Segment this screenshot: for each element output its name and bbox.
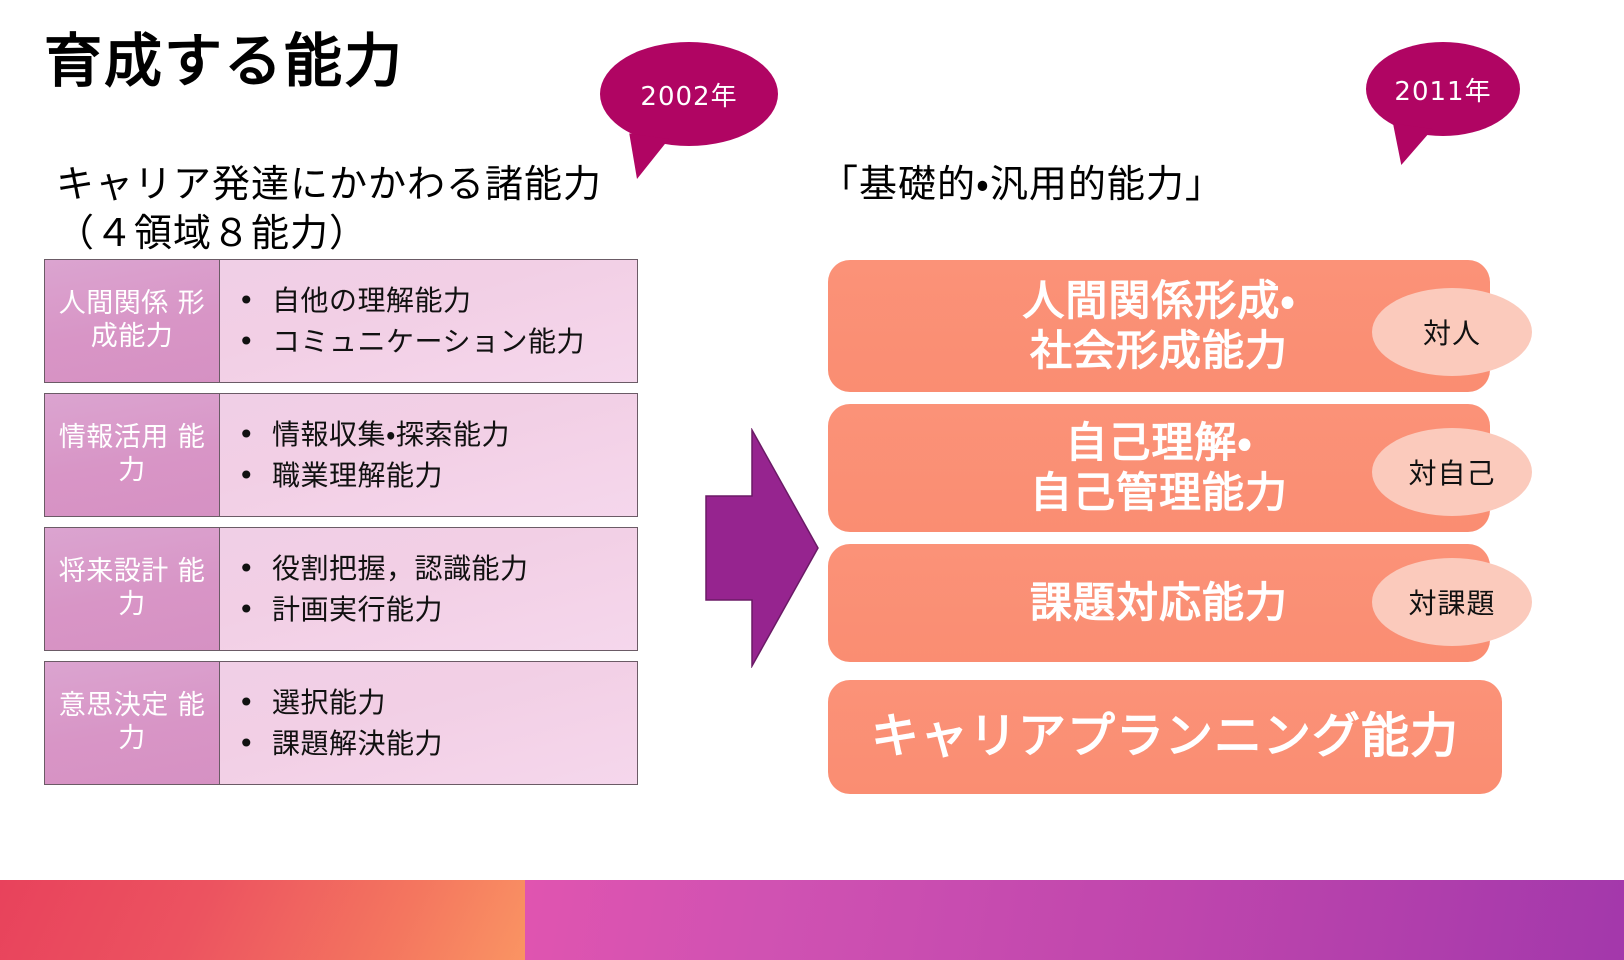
bullet-icon: •	[238, 414, 272, 455]
list-item-label: 選択能力	[272, 682, 386, 723]
list-item-label: 計画実行能力	[272, 589, 443, 630]
table-row-label: 情報活用 能力	[45, 394, 220, 516]
badge-oval-taijiko: 対自己	[1372, 428, 1532, 516]
right-arrow-icon	[694, 428, 820, 668]
list-item-label: 課題解決能力	[272, 723, 443, 764]
table-row-items: • 自他の理解能力 • コミュニケーション能力	[220, 260, 637, 382]
list-item: • 計画実行能力	[238, 589, 637, 630]
bottom-decorative-bar	[0, 880, 1624, 960]
list-item-label: 情報収集・探索能力	[272, 414, 510, 455]
bullet-icon: •	[238, 280, 272, 321]
list-item: • 課題解決能力	[238, 723, 637, 764]
callout-bubble-2011-label: 2011年	[1394, 71, 1491, 108]
list-item-label: 職業理解能力	[272, 455, 443, 496]
table-row-items: • 選択能力 • 課題解決能力	[220, 662, 637, 784]
list-item-label: コミュニケーション能力	[272, 321, 585, 362]
bullet-icon: •	[238, 455, 272, 496]
list-item: • 役割把握，認識能力	[238, 548, 637, 589]
capability-box-label: 人間関係形成・ 社会形成能力	[1022, 276, 1295, 377]
callout-bubble-2002-label: 2002年	[640, 76, 737, 113]
bullet-icon: •	[238, 321, 272, 362]
capability-box-label: キャリアプランニング能力	[871, 708, 1459, 766]
left-column-heading: キャリア発達にかかわる諸能力 （４領域８能力）	[56, 160, 602, 257]
badge-oval-taijin: 対人	[1372, 288, 1532, 376]
table-row: 情報活用 能力 • 情報収集・探索能力 • 職業理解能力	[44, 393, 638, 517]
list-item: • 職業理解能力	[238, 455, 637, 496]
table-row-label: 人間関係 形成能力	[45, 260, 220, 382]
list-item: • 選択能力	[238, 682, 637, 723]
list-item: • コミュニケーション能力	[238, 321, 637, 362]
badge-oval-taikadai: 対課題	[1372, 558, 1532, 646]
callout-tail-icon	[623, 133, 669, 182]
table-row-label: 将来設計 能力	[45, 528, 220, 650]
table-row-items: • 情報収集・探索能力 • 職業理解能力	[220, 394, 637, 516]
capability-box-label: 課題対応能力	[1030, 578, 1288, 628]
bullet-icon: •	[238, 682, 272, 723]
badge-oval-label: 対自己	[1408, 452, 1495, 492]
table-row: 意思決定 能力 • 選択能力 • 課題解決能力	[44, 661, 638, 785]
list-item-label: 役割把握，認識能力	[272, 548, 529, 589]
badge-oval-label: 対人	[1423, 312, 1481, 352]
table-row: 人間関係 形成能力 • 自他の理解能力 • コミュニケーション能力	[44, 259, 638, 383]
capability-box-career-planning: キャリアプランニング能力	[828, 680, 1502, 794]
table-row-label: 意思決定 能力	[45, 662, 220, 784]
bullet-icon: •	[238, 589, 272, 630]
callout-tail-icon	[1387, 123, 1432, 168]
legacy-competency-table: 人間関係 形成能力 • 自他の理解能力 • コミュニケーション能力 情報活用 能…	[44, 259, 638, 795]
table-row: 将来設計 能力 • 役割把握，認識能力 • 計画実行能力	[44, 527, 638, 651]
bullet-icon: •	[238, 548, 272, 589]
bottom-bar-segment-cool	[525, 880, 1624, 960]
page-title: 育成する能力	[44, 30, 404, 94]
bullet-icon: •	[238, 723, 272, 764]
badge-oval-label: 対課題	[1408, 582, 1495, 622]
right-column-heading: 「基礎的・汎用的能力」	[820, 160, 1224, 209]
capability-box-label: 自己理解・ 自己管理能力	[1030, 418, 1288, 519]
callout-bubble-2002: 2002年	[600, 42, 778, 146]
callout-bubble-2011: 2011年	[1366, 42, 1520, 136]
list-item-label: 自他の理解能力	[272, 280, 472, 321]
table-row-items: • 役割把握，認識能力 • 計画実行能力	[220, 528, 637, 650]
list-item: • 自他の理解能力	[238, 280, 637, 321]
bottom-bar-segment-warm	[0, 880, 525, 960]
list-item: • 情報収集・探索能力	[238, 414, 637, 455]
